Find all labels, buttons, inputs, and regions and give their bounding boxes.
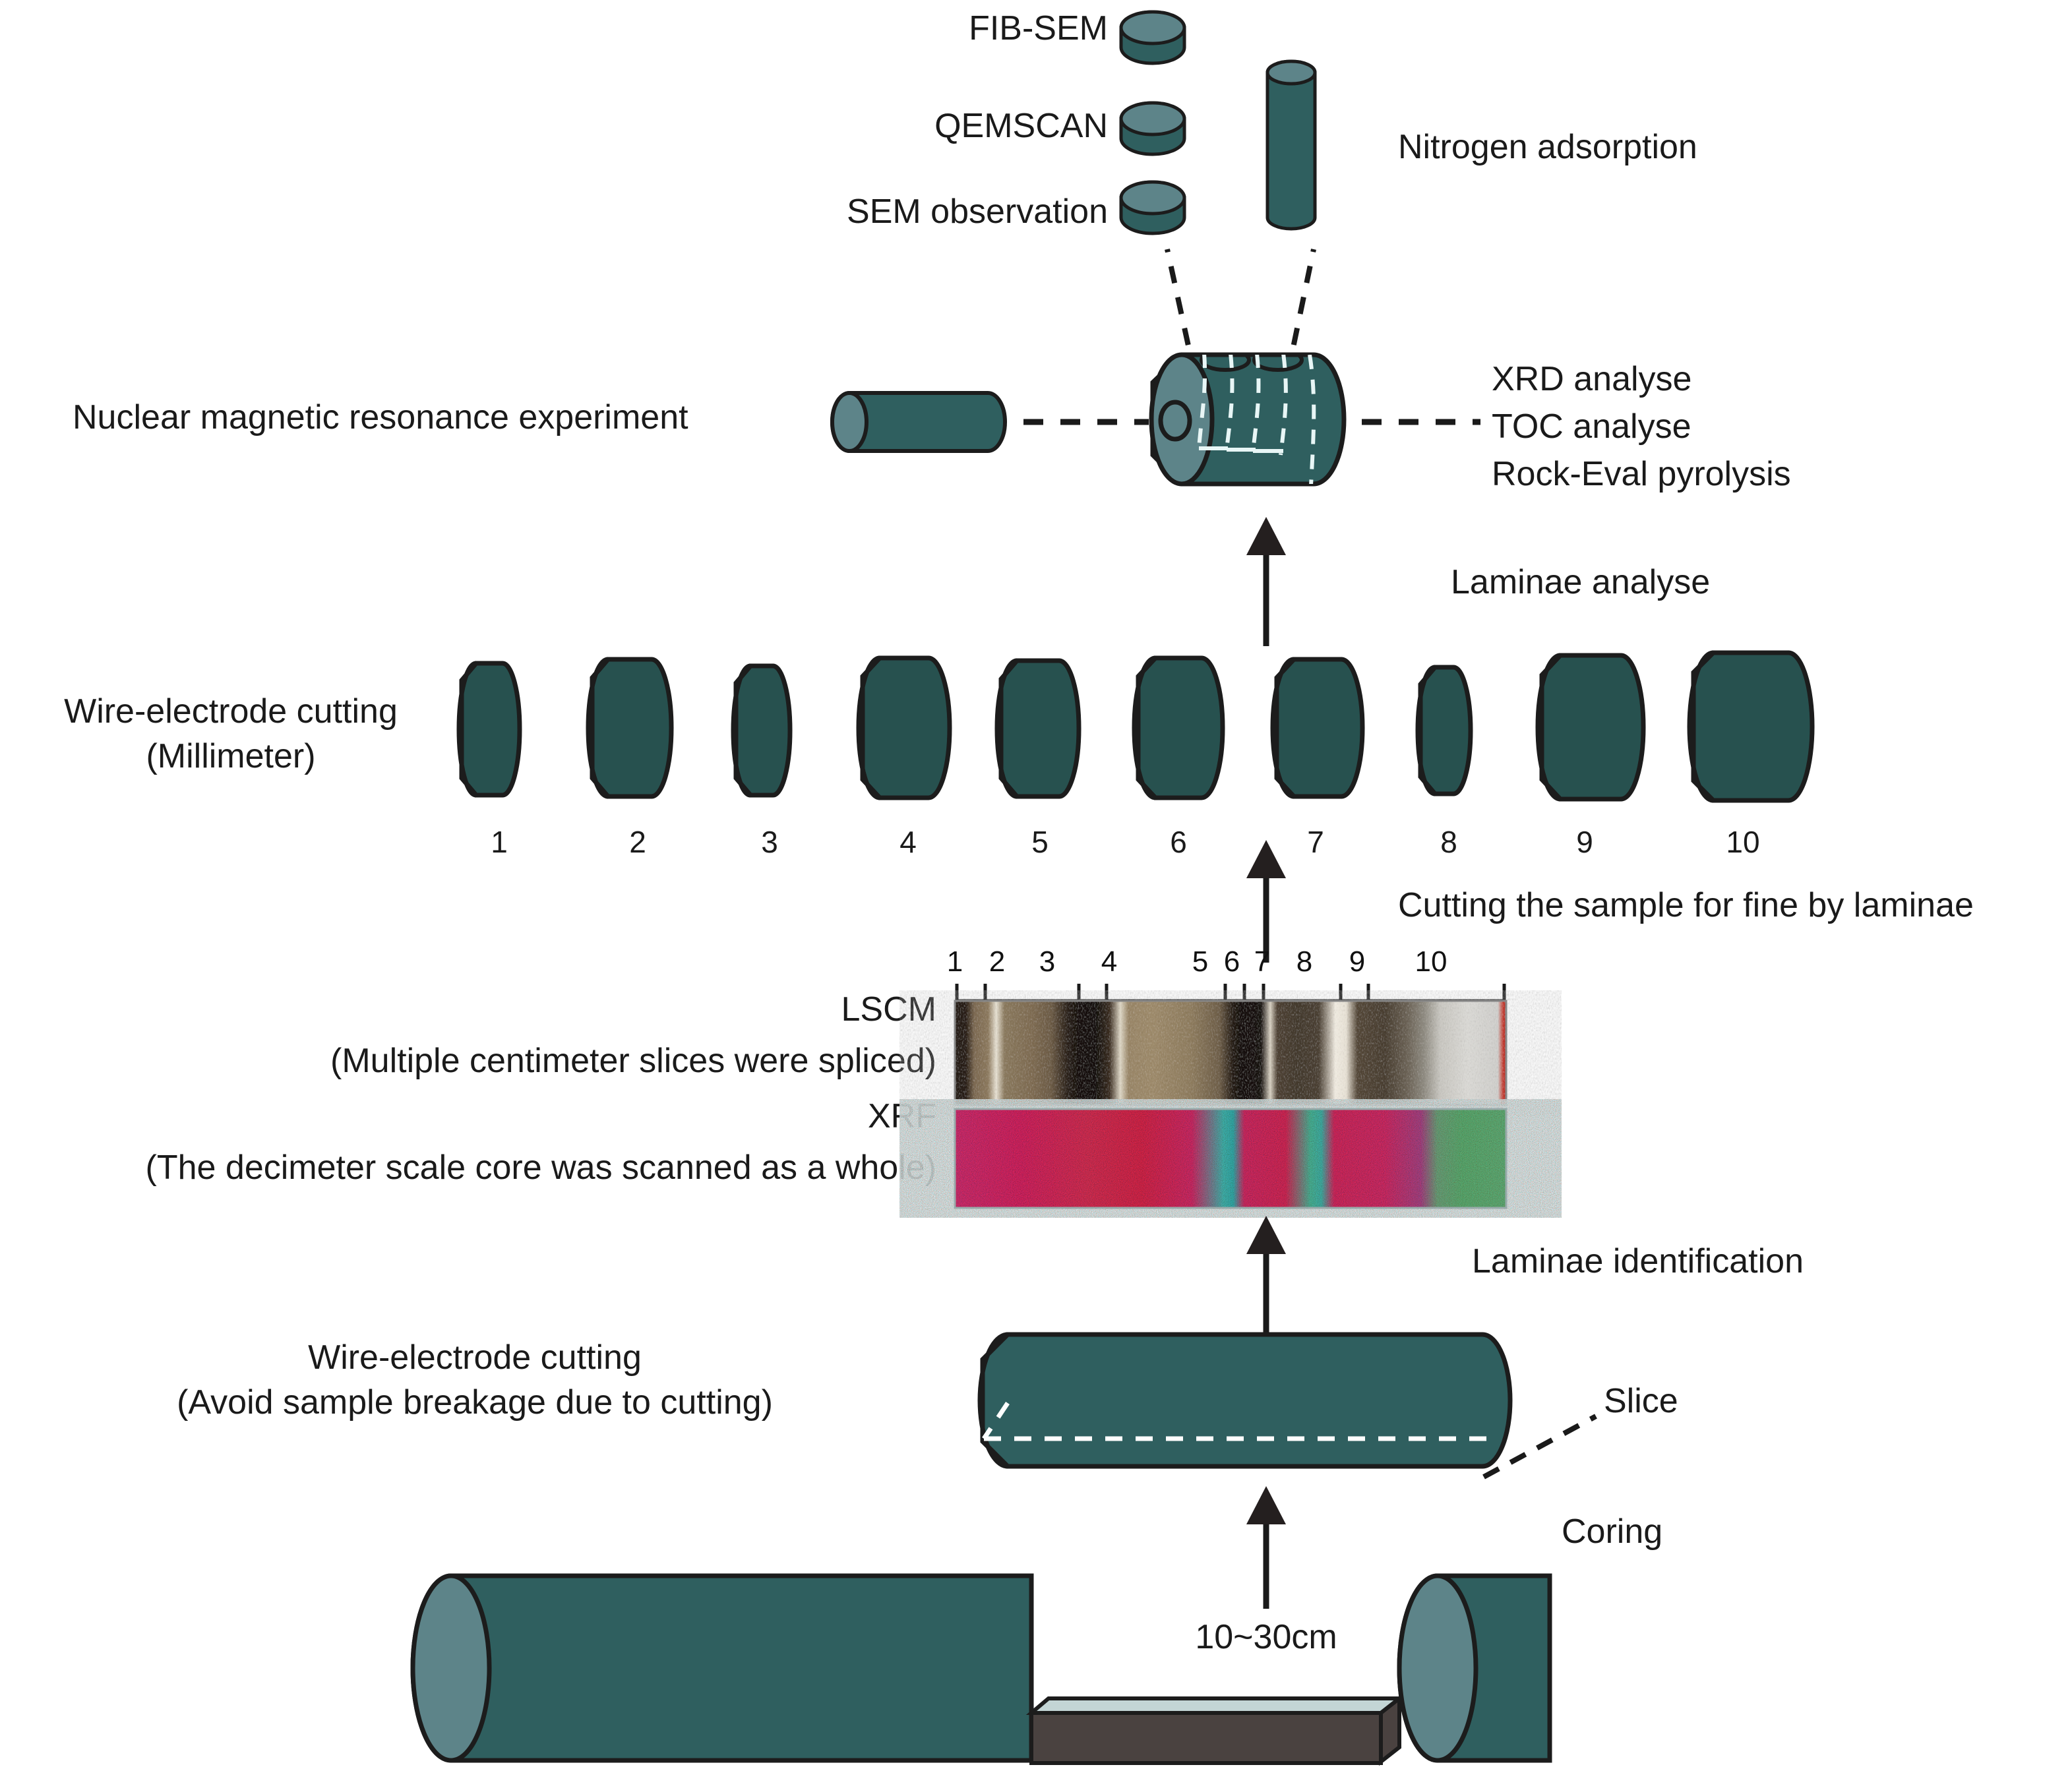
coring-assembly xyxy=(409,1569,1556,1767)
label-xrf: XRF xyxy=(528,1094,936,1139)
slice-number-3: 3 xyxy=(733,824,806,860)
scan-tick-number-8: 8 xyxy=(1285,945,1324,978)
wire-cutting-mm-line2: (Millimeter) xyxy=(146,737,315,775)
slice-shape-10 xyxy=(1688,644,1837,814)
lscm-scan-strip xyxy=(955,1001,1506,1105)
analyses-connector-dashes xyxy=(1362,415,1487,429)
xrf-scan-strip xyxy=(955,1109,1506,1208)
slice-number-4: 4 xyxy=(872,824,944,860)
label-xrd-analyse: XRD analyse xyxy=(1492,357,1691,402)
wire-cutting-mm-line1: Wire-electrode cutting xyxy=(64,692,398,731)
slice-shape-5 xyxy=(996,651,1105,810)
label-wire-electrode-cutting-avoid: Wire-electrode cutting (Avoid sample bre… xyxy=(13,1336,936,1425)
scan-tick-number-10: 10 xyxy=(1411,945,1451,978)
slice-number-5: 5 xyxy=(1004,824,1076,860)
label-core-gap-length: 10~30cm xyxy=(1134,1615,1398,1660)
label-coring: Coring xyxy=(1562,1510,1662,1555)
label-cutting-sample-fine-laminae: Cutting the sample for fine by laminae xyxy=(1398,883,1974,928)
qemscan-disc-icon xyxy=(1121,103,1184,154)
label-nitrogen-adsorption: Nitrogen adsorption xyxy=(1398,125,1697,170)
top-shapes-group xyxy=(1114,0,1411,264)
sem-observation-disc-icon xyxy=(1121,182,1184,233)
label-wire-electrode-cutting-mm: Wire-electrode cutting (Millimeter) xyxy=(13,690,448,779)
label-sem-observation: SEM observation xyxy=(725,190,1108,235)
slice-shape-1 xyxy=(456,654,542,806)
coring-core-left xyxy=(413,1576,1031,1760)
arrow-cutting-fine xyxy=(1240,837,1293,963)
coring-gap-slab xyxy=(1031,1698,1399,1763)
diagram-canvas: FIB-SEM QEMSCAN SEM observation Nitrogen… xyxy=(0,0,2072,1767)
coring-core-right xyxy=(1399,1576,1550,1760)
label-rock-eval-pyrolysis: Rock-Eval pyrolysis xyxy=(1492,452,1791,497)
sample-bore-hole xyxy=(1161,402,1190,439)
arrow-laminae-analyse xyxy=(1240,514,1293,646)
label-qemscan: QEMSCAN xyxy=(765,104,1108,149)
label-laminae-identification: Laminae identification xyxy=(1472,1240,1804,1284)
scan-tick-number-1: 1 xyxy=(935,945,975,978)
slice-number-6: 6 xyxy=(1142,824,1215,860)
label-nmr-experiment: Nuclear magnetic resonance experiment xyxy=(73,396,688,440)
slice-number-8: 8 xyxy=(1413,824,1485,860)
label-lscm: LSCM xyxy=(528,988,936,1033)
fib-sem-disc-icon xyxy=(1121,12,1184,63)
slice-shape-2 xyxy=(587,650,696,810)
scan-tick-number-7: 7 xyxy=(1242,945,1282,978)
slice-number-2: 2 xyxy=(601,824,674,860)
arrow-laminae-identification xyxy=(1240,1213,1293,1338)
label-fib-sem: FIB-SEM xyxy=(765,7,1108,51)
slice-shape-9 xyxy=(1537,646,1668,812)
wire-cutting-avoid-line1: Wire-electrode cutting xyxy=(308,1338,642,1377)
scan-tick-number-9: 9 xyxy=(1337,945,1377,978)
label-lscm-sub: (Multiple centimeter slices were spliced… xyxy=(185,1039,936,1084)
slice-shape-7 xyxy=(1271,650,1387,810)
wire-cutting-avoid-line2: (Avoid sample breakage due to cutting) xyxy=(177,1383,773,1422)
slice-number-9: 9 xyxy=(1548,824,1621,860)
sample-cylinder xyxy=(1141,343,1358,508)
slice-number-10: 10 xyxy=(1707,824,1779,860)
slice-number-1: 1 xyxy=(463,824,535,860)
label-laminae-analyse: Laminae analyse xyxy=(1451,560,1710,605)
nmr-connector-dashes xyxy=(1023,415,1155,429)
nmr-cylinder-icon xyxy=(830,384,1014,456)
slice-shape-3 xyxy=(731,657,815,806)
slice-leader-line xyxy=(1477,1404,1622,1483)
label-slice: Slice xyxy=(1604,1379,1678,1424)
label-toc-analyse: TOC analyse xyxy=(1492,405,1691,450)
slice-shape-6 xyxy=(1133,649,1246,811)
scan-tick-number-4: 4 xyxy=(1089,945,1129,978)
cut-core-cylinder xyxy=(969,1325,1530,1477)
scan-tick-number-3: 3 xyxy=(1027,945,1067,978)
label-xrf-sub: (The decimeter scale core was scanned as… xyxy=(13,1146,936,1191)
scan-tick-number-2: 2 xyxy=(977,945,1017,978)
nitrogen-adsorption-rod-icon xyxy=(1267,61,1315,229)
slice-shape-8 xyxy=(1415,658,1496,804)
slice-shape-4 xyxy=(857,649,973,811)
